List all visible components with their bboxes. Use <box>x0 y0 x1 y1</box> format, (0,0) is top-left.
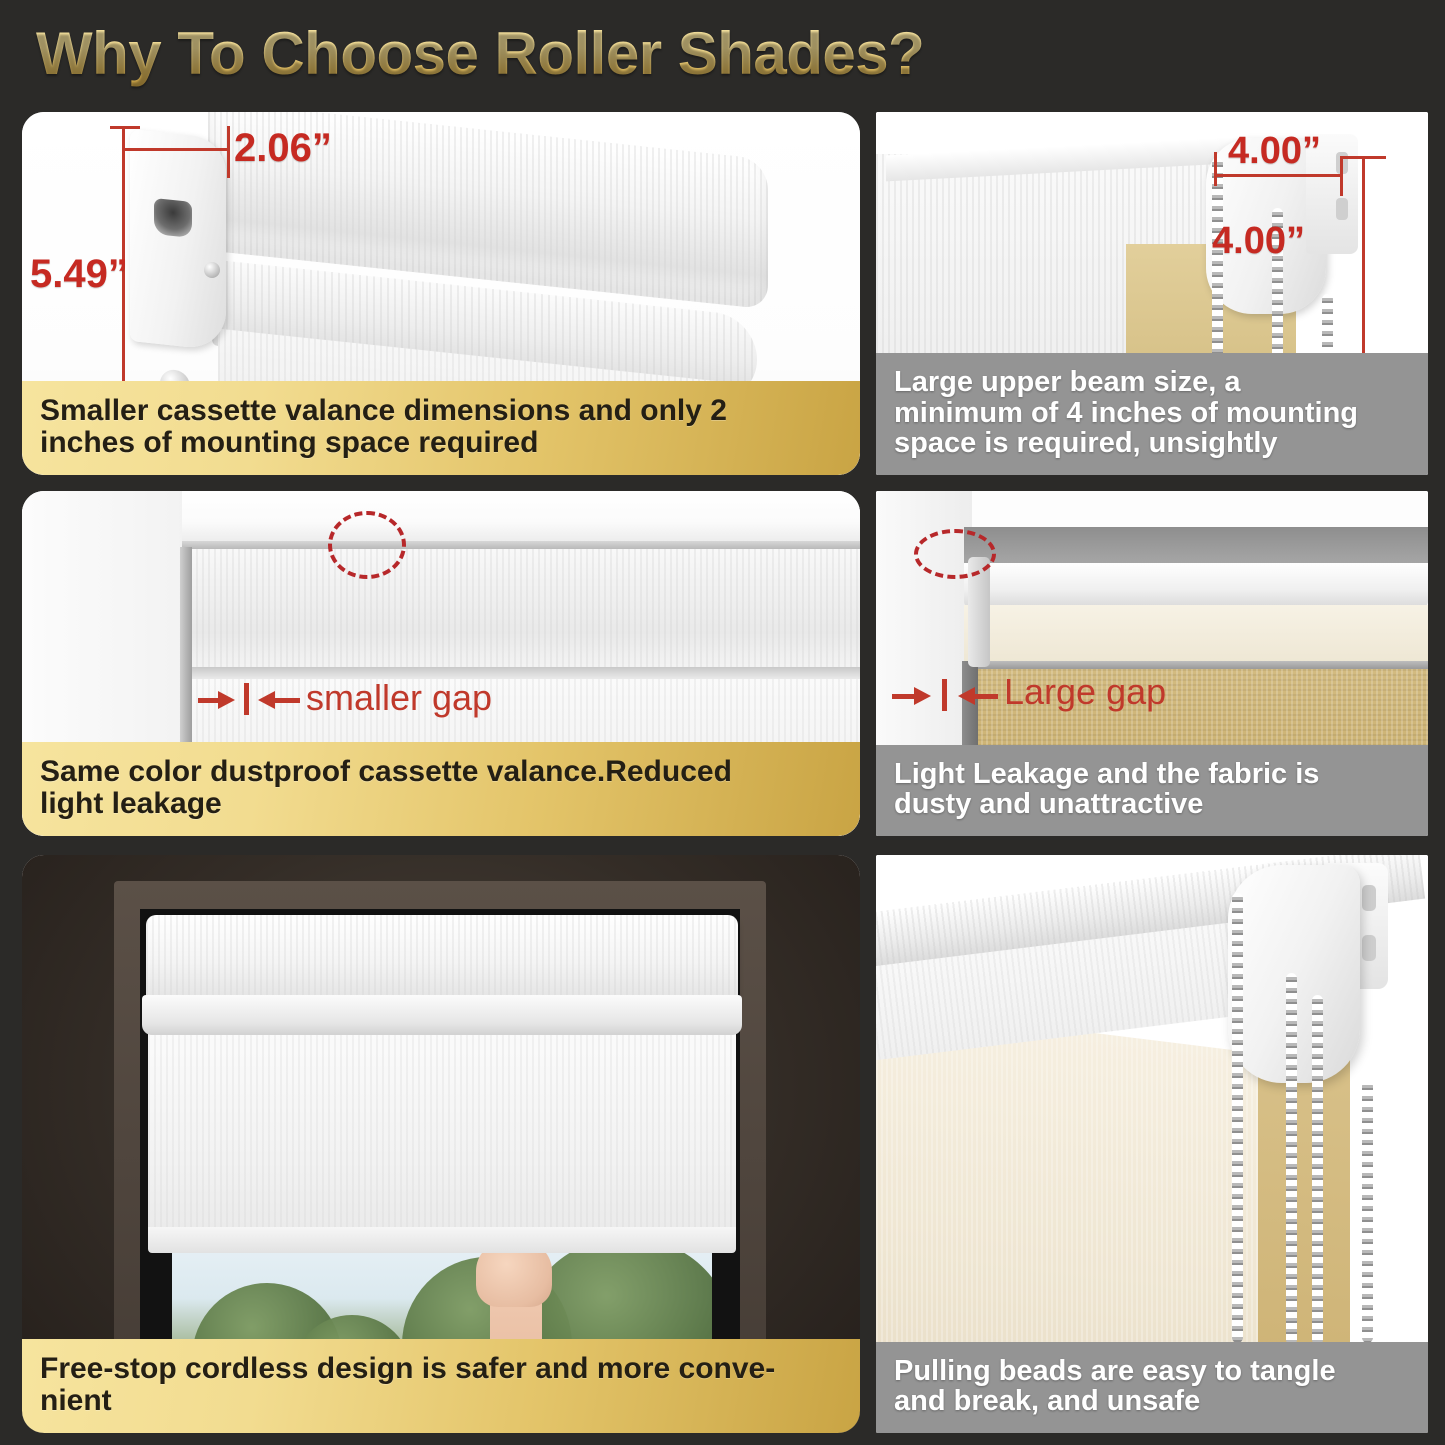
caption-line: Pulling beads are easy to tangle <box>894 1356 1412 1387</box>
comparison-grid: 2.06” 5.49” Smaller cassette valance dim… <box>0 0 1445 1445</box>
screw-icon <box>204 262 220 278</box>
panel-pro-dustproof-valance: smaller gap Same color dustproof cassett… <box>22 491 860 836</box>
panel-con-pulling-beads: Pulling beads are easy to tangle and bre… <box>876 855 1428 1433</box>
panel-caption: Light Leakage and the fabric is dusty an… <box>876 745 1428 836</box>
highlight-circle <box>914 529 996 579</box>
width-dimension-label: 2.06” <box>234 126 332 171</box>
bead-chain <box>1312 995 1323 1345</box>
highlight-circle <box>328 511 406 579</box>
panel-caption: Large upper beam size, a minimum of 4 in… <box>876 353 1428 475</box>
caption-line: Large upper beam size, a <box>894 367 1412 398</box>
width-dimension-label: 4.00” <box>1228 130 1321 173</box>
panel-caption: Free-stop cordless design is safer and m… <box>22 1339 860 1433</box>
bracket-slot-icon <box>154 198 192 238</box>
panel-con-beam-size: 4.00” 4.00” Large upper beam size, a min… <box>876 112 1428 475</box>
cassette-valance <box>146 915 738 1001</box>
caption-line: Same color dustproof cassette valance.Re… <box>40 756 844 788</box>
caption-line: nient <box>40 1385 844 1417</box>
panel-caption: Same color dustproof cassette valance.Re… <box>22 742 860 836</box>
bead-chain <box>1362 1081 1373 1343</box>
bottom-rail <box>148 1227 736 1253</box>
height-dimension-label: 5.49” <box>30 252 128 297</box>
panel-pro-cordless-design: Free-stop cordless design is safer and m… <box>22 855 860 1433</box>
caption-line: light leakage <box>40 788 844 820</box>
caption-line: Smaller cassette valance dimensions and … <box>40 395 844 427</box>
bead-chain <box>1232 893 1243 1343</box>
bead-chain <box>1286 973 1297 1345</box>
caption-line: Free-stop cordless design is safer and m… <box>40 1353 844 1385</box>
panel-pro-cassette-size: 2.06” 5.49” Smaller cassette valance dim… <box>22 112 860 475</box>
caption-line: Light Leakage and the fabric is <box>894 759 1412 790</box>
caption-line: space is required, unsightly <box>894 428 1412 459</box>
panel-con-light-leakage: Large gap Light Leakage and the fabric i… <box>876 491 1428 836</box>
gap-label: smaller gap <box>306 677 492 719</box>
panel-caption: Smaller cassette valance dimensions and … <box>22 381 860 475</box>
caption-line: dusty and unattractive <box>894 789 1412 820</box>
caption-line: and break, and unsafe <box>894 1386 1412 1417</box>
caption-line: minimum of 4 inches of mounting <box>894 398 1412 429</box>
panel-caption: Pulling beads are easy to tangle and bre… <box>876 1342 1428 1433</box>
caption-line: inches of mounting space required <box>40 427 844 459</box>
height-dimension-label: 4.00” <box>1212 220 1305 263</box>
gap-label: Large gap <box>1004 671 1166 713</box>
